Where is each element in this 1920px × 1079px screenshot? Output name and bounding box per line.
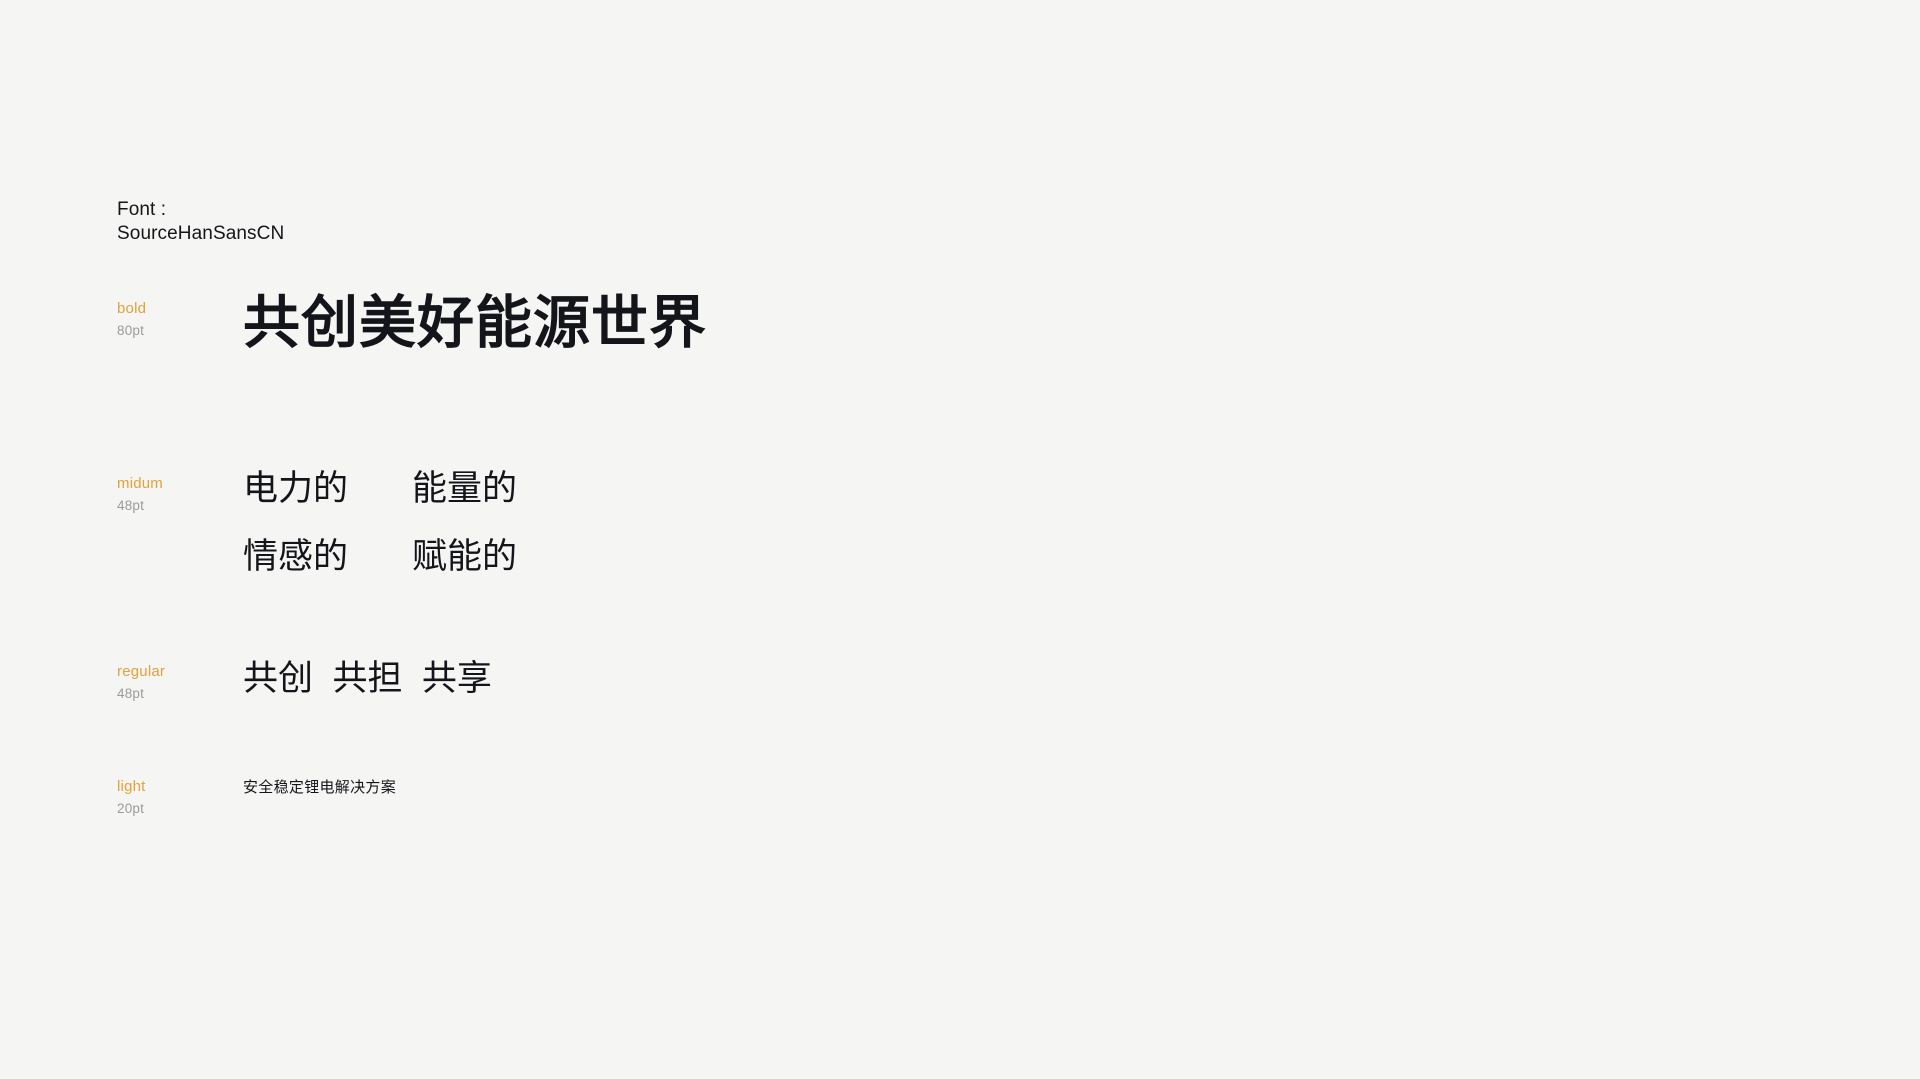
specimen-word: 能量的 [412,466,517,512]
specimen-word: 赋能的 [412,534,517,580]
specimen-regular-line-chinese: 共创 共担 共享 [243,657,492,701]
specimen-word: 情感的 [243,534,348,580]
specimen-column-chinese: Font : SourceHanSansCN bold 80pt 共创美好能源世… [0,0,960,1079]
typography-specimen-sheet: Font : SourceHanSansCN bold 80pt 共创美好能源世… [0,0,1920,1079]
font-name-header-chinese: Font : SourceHanSansCN [117,198,284,247]
specimen-column-latin: Font : Rany Bold 80pt Creating the world… [960,0,1920,1079]
specimen-word-grid-chinese: 电力的 能量的 情感的 赋能的 [243,466,517,579]
specimen-headline-chinese: 共创美好能源世界 [243,290,707,356]
specimen-light-line-chinese: 安全稳定锂电解决方案 [243,777,396,798]
specimen-word: 电力的 [243,466,348,512]
weight-size-chinese-light: 20pt [117,799,267,819]
